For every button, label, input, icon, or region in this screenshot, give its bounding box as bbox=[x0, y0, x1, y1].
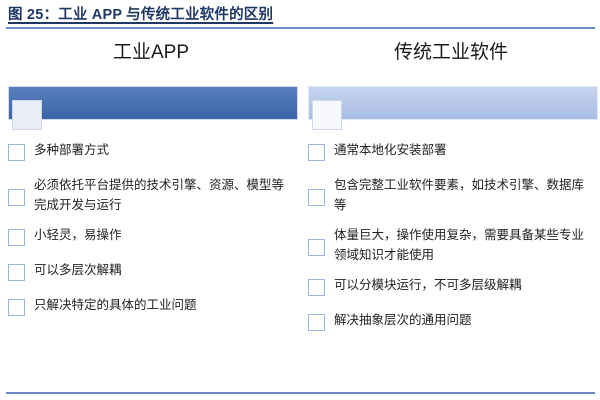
checkbox-icon[interactable] bbox=[8, 144, 25, 161]
checkbox-icon[interactable] bbox=[308, 239, 325, 256]
list-item: 可以分模块运行，不可多层级解耦 bbox=[308, 275, 596, 296]
checkbox-icon[interactable] bbox=[8, 264, 25, 281]
list-item: 可以多层次解耦 bbox=[8, 260, 296, 281]
figure-title: 图 25：工业 APP 与传统工业软件的区别 bbox=[8, 3, 273, 24]
list-item: 解决抽象层次的通用问题 bbox=[308, 310, 596, 331]
list-item-label: 体量巨大，操作使用复杂，需要具备某些专业领域知识才能使用 bbox=[334, 225, 596, 265]
accent-bar-notch-right bbox=[312, 100, 342, 130]
list-item-label: 必须依托平台提供的技术引擎、资源、模型等完成开发与运行 bbox=[34, 175, 296, 215]
accent-bar-industrial-app bbox=[8, 86, 298, 120]
list-item-label: 可以分模块运行，不可多层级解耦 bbox=[334, 275, 596, 295]
list-item: 必须依托平台提供的技术引擎、资源、模型等完成开发与运行 bbox=[8, 175, 296, 215]
list-item-label: 小轻灵，易操作 bbox=[34, 225, 296, 245]
column-header-industrial-app: 工业APP bbox=[6, 38, 296, 68]
title-divider bbox=[6, 27, 595, 29]
checkbox-icon[interactable] bbox=[308, 144, 325, 161]
column-header-traditional-industrial-software: 传统工业软件 bbox=[306, 38, 596, 68]
list-item-label: 多种部署方式 bbox=[34, 140, 296, 160]
checkbox-icon[interactable] bbox=[8, 189, 25, 206]
list-item-label: 可以多层次解耦 bbox=[34, 260, 296, 280]
checkbox-icon[interactable] bbox=[8, 229, 25, 246]
item-list-traditional-industrial-software: 通常本地化安装部署 包含完整工业软件要素，如技术引擎、数据库等 体量巨大，操作使… bbox=[308, 140, 596, 345]
list-item: 通常本地化安装部署 bbox=[308, 140, 596, 161]
accent-bar-notch-left bbox=[12, 100, 42, 130]
item-list-industrial-app: 多种部署方式 必须依托平台提供的技术引擎、资源、模型等完成开发与运行 小轻灵，易… bbox=[8, 140, 296, 330]
list-item: 小轻灵，易操作 bbox=[8, 225, 296, 246]
bottom-divider bbox=[6, 392, 595, 394]
list-item: 只解决特定的具体的工业问题 bbox=[8, 295, 296, 316]
list-item: 体量巨大，操作使用复杂，需要具备某些专业领域知识才能使用 bbox=[308, 225, 596, 265]
list-item: 多种部署方式 bbox=[8, 140, 296, 161]
list-item-label: 包含完整工业软件要素，如技术引擎、数据库等 bbox=[334, 175, 596, 215]
list-item-label: 解决抽象层次的通用问题 bbox=[334, 310, 596, 330]
list-item-label: 只解决特定的具体的工业问题 bbox=[34, 295, 296, 315]
checkbox-icon[interactable] bbox=[308, 189, 325, 206]
checkbox-icon[interactable] bbox=[308, 314, 325, 331]
figure-title-bar: 图 25：工业 APP 与传统工业软件的区别 bbox=[0, 0, 600, 30]
accent-bar-traditional-industrial-software bbox=[308, 86, 598, 120]
checkbox-icon[interactable] bbox=[308, 279, 325, 296]
checkbox-icon[interactable] bbox=[8, 299, 25, 316]
list-item: 包含完整工业软件要素，如技术引擎、数据库等 bbox=[308, 175, 596, 215]
list-item-label: 通常本地化安装部署 bbox=[334, 140, 596, 160]
